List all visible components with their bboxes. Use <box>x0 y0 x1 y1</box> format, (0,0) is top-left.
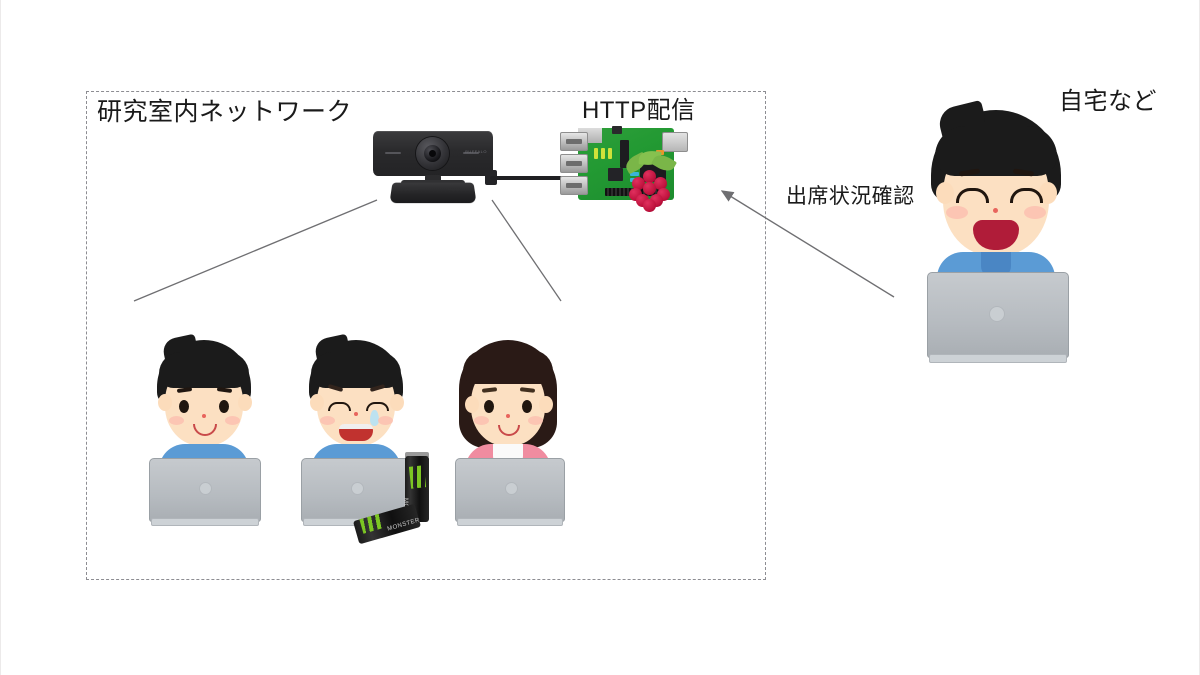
webcam-brand-text: BUFFALO <box>465 149 487 154</box>
person-student-1 <box>149 340 259 535</box>
rpi-capacitor-3 <box>608 148 612 159</box>
usb-cable <box>490 176 562 180</box>
rpi-usb-port-1 <box>560 132 588 151</box>
viewer-nose <box>993 208 998 213</box>
student-3-laptop-base <box>457 518 563 526</box>
student-1-eye-right <box>219 400 229 413</box>
student-2-eye-right <box>366 402 389 411</box>
student-1-fringe <box>159 352 249 388</box>
student-2-nose <box>354 412 358 416</box>
student-3-fringe <box>463 350 553 384</box>
raspberry-body <box>628 170 672 210</box>
student-2-ear-left <box>310 394 324 411</box>
rpi-small-chip <box>608 168 623 181</box>
student-3-cheek-left <box>474 416 489 425</box>
student-2-eye-left <box>328 402 351 411</box>
student-1-cheek-left <box>169 416 184 425</box>
student-2-cheek-right <box>378 416 393 425</box>
person-student-2 <box>301 340 411 535</box>
can-standing-claw-icon <box>409 465 426 488</box>
viewer-cheek-left <box>946 206 968 219</box>
rpi-capacitor-2 <box>601 148 605 159</box>
student-3-laptop-logo <box>505 482 518 495</box>
student-1-laptop-logo <box>199 482 212 495</box>
home-label: 自宅など <box>1059 90 1157 114</box>
student-1-eye-left <box>179 400 189 413</box>
student-3-ear-left <box>465 396 479 413</box>
student-1-laptop-base <box>151 518 259 526</box>
student-1-ear-right <box>238 394 252 411</box>
rpi-usb-port-3 <box>560 176 588 195</box>
rpi-micro-usb-port <box>612 126 622 134</box>
student-3-eye-left <box>484 400 494 413</box>
student-3-nose <box>506 414 510 418</box>
webcam-lens-aperture <box>429 150 436 157</box>
webcam-stand <box>389 183 476 204</box>
student-3-ear-right <box>539 396 553 413</box>
student-1-nose <box>202 414 206 418</box>
person-student-3 <box>453 340 563 535</box>
student-3-cheek-right <box>528 416 543 425</box>
student-2-teeth <box>339 424 373 429</box>
student-2-cheek-left <box>320 416 335 425</box>
webcam-device: BUFFALO <box>373 131 493 211</box>
viewer-laptop-base <box>929 354 1067 363</box>
viewer-fringe <box>935 126 1057 176</box>
attendance-check-label: 出席状況確認 <box>786 186 915 207</box>
slide-canvas: 研究室内ネットワーク HTTP配信 自宅など 出席状況確認 BUFFALO <box>0 0 1200 675</box>
raspberry-pi-device <box>560 126 680 212</box>
http-stream-label: HTTP配信 <box>582 99 696 123</box>
student-3-eye-right <box>522 400 532 413</box>
student-2-laptop-logo <box>351 482 364 495</box>
rpi-ethernet-port <box>662 132 688 152</box>
student-1-cheek-right <box>225 416 240 425</box>
viewer-cheek-right <box>1024 206 1046 219</box>
person-remote-viewer <box>921 110 1071 365</box>
viewer-ear-left <box>936 182 954 204</box>
student-2-ear-right <box>390 394 404 411</box>
raspberry-logo-icon <box>622 154 680 212</box>
lan-boundary-label: 研究室内ネットワーク <box>97 100 352 125</box>
student-2-fringe <box>311 352 401 388</box>
rpi-capacitor-1 <box>594 148 598 159</box>
rpi-usb-port-2 <box>560 154 588 173</box>
webcam-mic-left <box>385 152 401 154</box>
student-1-ear-left <box>158 394 172 411</box>
viewer-laptop-logo <box>989 306 1005 322</box>
